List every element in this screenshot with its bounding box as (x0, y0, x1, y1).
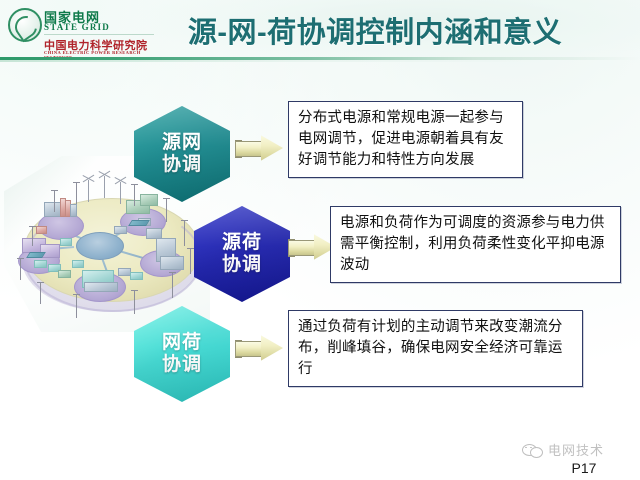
diagram-wind-turbine (88, 180, 89, 202)
diagram-transmission-pole (184, 220, 185, 246)
diagram-transmission-pole (190, 248, 191, 274)
logo-divider (44, 34, 154, 35)
slide-header: 国家电网 STATE GRID 中国电力科学研究院 CHINA ELECTRIC… (0, 0, 640, 60)
wechat-icon (522, 443, 542, 457)
diagram-transmission-pole (76, 182, 77, 204)
diagram-load-unit (58, 270, 71, 278)
arrow-head (261, 333, 283, 363)
diagram-transmission-pole (40, 282, 41, 304)
watermark-row: 电网技术 (522, 440, 632, 459)
state-grid-emblem-icon (8, 8, 42, 42)
diagram-building (84, 282, 118, 292)
description-box-source-load: 电源和负荷作为可调度的资源参与电力供需平衡控制，利用负荷柔性变化平抑电源波动 (330, 206, 621, 283)
diagram-transmission-pole (166, 198, 167, 222)
arrow-head (261, 133, 283, 163)
wechat-dot (525, 447, 527, 449)
arrow-right-icon (235, 333, 283, 363)
diagram-load-unit (60, 238, 72, 246)
diagram-transmission-pole (54, 190, 55, 212)
diagram-smokestack (70, 204, 77, 217)
diagram-building (140, 194, 158, 206)
diagram-transmission-pole (172, 272, 173, 298)
diagram-wind-turbine (104, 176, 105, 198)
diagram-load-unit (130, 272, 143, 280)
page-number: P17 (522, 460, 632, 476)
hexagon-label-line2: 协调 (162, 354, 202, 376)
diagram-load-unit (34, 260, 47, 268)
hexagon-label-line2: 协调 (222, 254, 262, 276)
hexagon-label-line1: 网荷 (162, 332, 202, 354)
diagram-load-unit (72, 260, 84, 268)
diagram-transmission-pole (20, 258, 21, 280)
arrow-right-icon (235, 133, 283, 163)
diagram-transmission-pole (134, 184, 135, 206)
footer-watermark: 电网技术 P17 (522, 440, 632, 476)
description-box-source-grid: 分布式电源和常规电源一起参与电网调节，促进电源朝着具有友好调节能力和特性方向发展 (288, 101, 523, 178)
logo-company-name-en: STATE GRID (44, 22, 110, 32)
diagram-transmission-pole (76, 294, 77, 318)
diagram-wind-turbine (120, 182, 121, 204)
slide-canvas: 国家电网 STATE GRID 中国电力科学研究院 CHINA ELECTRIC… (0, 0, 640, 480)
diagram-transmission-pole (32, 226, 33, 246)
description-box-grid-load: 通过负荷有计划的主动调节来改变潮流分布，削峰填谷，确保电网安全经济可靠运行 (288, 310, 583, 387)
wechat-bubble-small (530, 447, 543, 458)
header-accent-rule-secondary (0, 60, 640, 62)
hexagon-label-line1: 源荷 (222, 232, 262, 254)
arrow-right-icon (288, 232, 336, 262)
page-title: 源-网-荷协调控制内涵和意义 (160, 9, 590, 51)
hexagon-label-line2: 协调 (162, 154, 202, 176)
watermark-label: 电网技术 (548, 440, 604, 459)
diagram-solar-panel (128, 220, 150, 226)
diagram-load-unit (114, 226, 127, 234)
organization-logo: 国家电网 STATE GRID 中国电力科学研究院 CHINA ELECTRIC… (6, 4, 156, 56)
hexagon-label-line1: 源网 (162, 132, 202, 154)
diagram-transmission-pole (134, 290, 135, 314)
diagram-load-unit (36, 226, 47, 234)
diagram-building (160, 256, 184, 270)
diagram-central-hub (76, 232, 124, 260)
wechat-dot (530, 447, 532, 449)
